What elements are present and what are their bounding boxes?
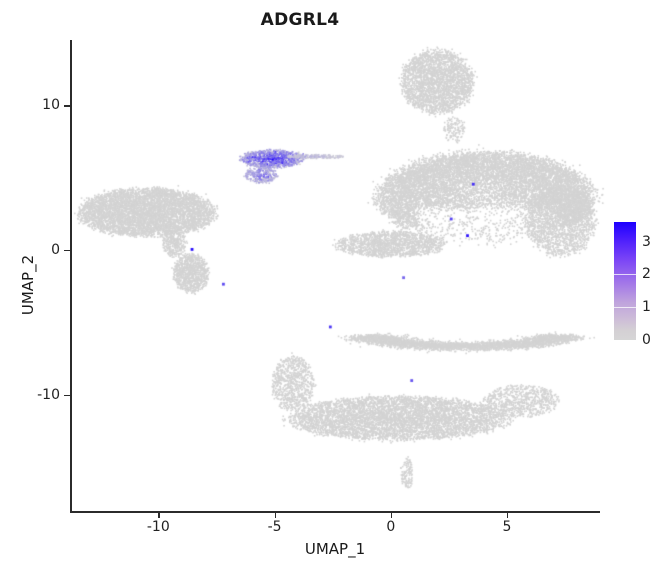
x-axis-line <box>70 511 600 513</box>
x-tick-label: 5 <box>503 519 512 535</box>
colorbar-tick <box>614 307 636 308</box>
y-tick <box>64 105 70 106</box>
x-tick <box>507 512 508 518</box>
colorbar-legend: 3210 <box>614 222 668 342</box>
colorbar-tick-label: 1 <box>642 299 651 315</box>
x-tick <box>391 512 392 518</box>
y-axis-line <box>70 40 72 512</box>
x-tick-label: -10 <box>147 519 170 535</box>
colorbar-gradient <box>614 222 636 340</box>
x-tick-label: 0 <box>386 519 395 535</box>
colorbar-tick <box>614 274 636 275</box>
colorbar-tick-label: 2 <box>642 266 651 282</box>
scatter-plot-area <box>0 0 672 576</box>
x-tick-label: -5 <box>268 519 282 535</box>
colorbar-tick <box>614 340 636 341</box>
x-tick <box>158 512 159 518</box>
y-tick <box>64 395 70 396</box>
y-axis-label: UMAP_2 <box>19 205 37 365</box>
x-axis-label: UMAP_1 <box>70 540 600 558</box>
x-tick <box>275 512 276 518</box>
umap-feature-plot: ADGRL4 -10-505 100-10 UMAP_1 UMAP_2 3210 <box>0 0 672 576</box>
scatter-canvas <box>0 0 672 576</box>
y-tick-label: -10 <box>2 387 60 403</box>
y-tick <box>64 250 70 251</box>
colorbar-tick-label: 0 <box>642 332 651 348</box>
colorbar-tick-label: 3 <box>642 234 651 250</box>
y-tick-label: 10 <box>2 97 60 113</box>
